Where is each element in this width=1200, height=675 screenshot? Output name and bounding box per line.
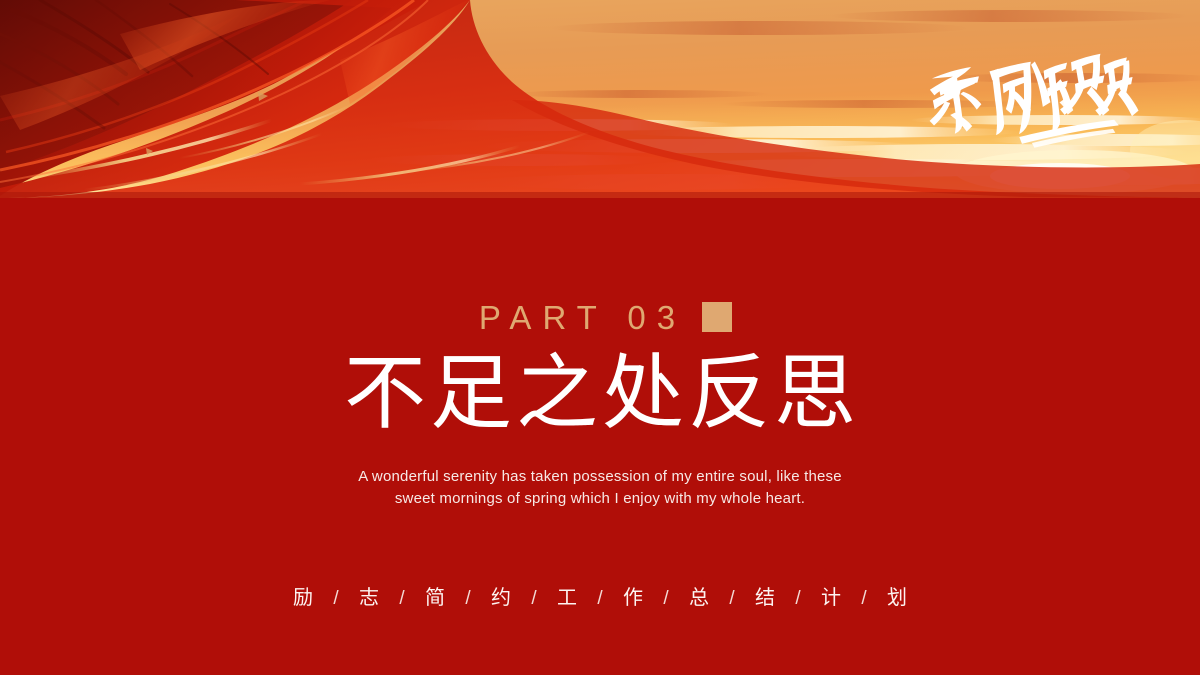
banner-artwork bbox=[0, 0, 1200, 198]
footer-char: 工 bbox=[547, 588, 587, 608]
footer-char: 结 bbox=[745, 588, 785, 608]
banner-image bbox=[0, 0, 1200, 198]
presentation-slide: PART 03 不足之处反思 A wonderful serenity has … bbox=[0, 0, 1200, 675]
subtitle-line-1: A wonderful serenity has taken possessio… bbox=[0, 466, 1200, 488]
footer-separator: / bbox=[389, 589, 415, 608]
subtitle-block: A wonderful serenity has taken possessio… bbox=[0, 466, 1200, 510]
footer-separator: / bbox=[851, 589, 877, 608]
footer-char: 志 bbox=[349, 588, 389, 608]
footer-char: 作 bbox=[613, 588, 653, 608]
subtitle-line-2: sweet mornings of spring which I enjoy w… bbox=[0, 488, 1200, 510]
footer-char: 励 bbox=[283, 588, 323, 608]
part-label: PART 03 bbox=[468, 301, 686, 334]
page-title: 不足之处反思 bbox=[0, 350, 1200, 439]
footer-separator: / bbox=[323, 589, 349, 608]
footer-char: 约 bbox=[481, 588, 521, 608]
footer-char: 总 bbox=[679, 588, 719, 608]
footer-separator: / bbox=[719, 589, 745, 608]
footer-char: 简 bbox=[415, 588, 455, 608]
footer-char: 计 bbox=[811, 588, 851, 608]
part-label-group: PART 03 bbox=[0, 296, 1200, 338]
slide-content: PART 03 不足之处反思 A wonderful serenity has … bbox=[0, 198, 1200, 675]
footer-char: 划 bbox=[877, 588, 917, 608]
accent-square-marker bbox=[702, 302, 732, 332]
footer-separator: / bbox=[785, 589, 811, 608]
footer-separator: / bbox=[521, 589, 547, 608]
footer-separator: / bbox=[587, 589, 613, 608]
footer-separator: / bbox=[653, 589, 679, 608]
footer-tagline: 励/志/简/约/工/作/总/结/计/划 bbox=[0, 588, 1200, 608]
footer-separator: / bbox=[455, 589, 481, 608]
